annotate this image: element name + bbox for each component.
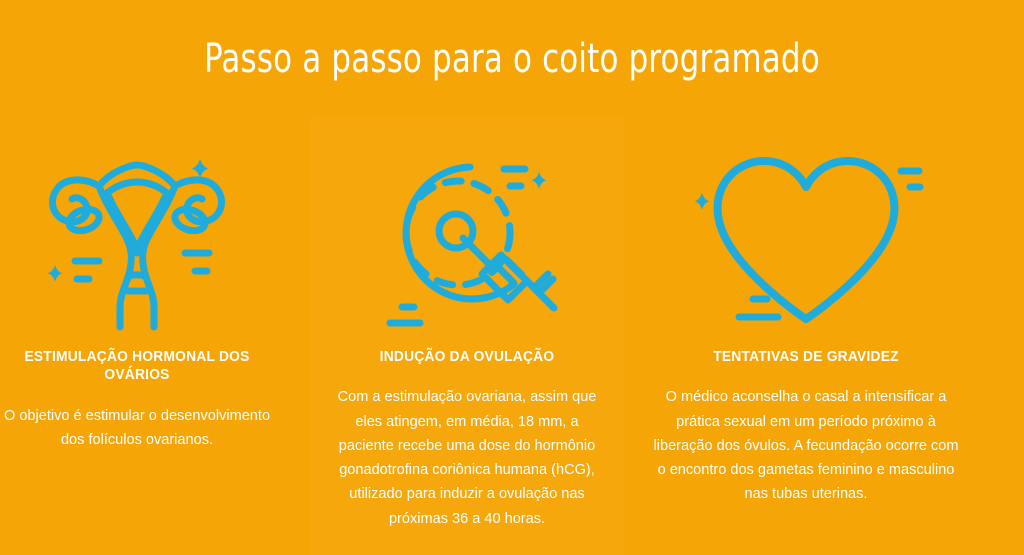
uterus-ovaries-icon bbox=[27, 141, 247, 341]
uterus-ovaries-icon-box bbox=[27, 134, 247, 348]
syringe-ovum-icon bbox=[362, 141, 572, 341]
step-body: O médico aconselha o casal a intensifica… bbox=[651, 366, 961, 506]
step-heading: INDUÇÃO DA OVULAÇÃO bbox=[325, 348, 610, 366]
step-heading: TENTATIVAS DE GRAVIDEZ bbox=[649, 348, 963, 366]
heart-icon-box bbox=[686, 134, 926, 348]
step-body: O objetivo é estimular o desenvolvimento… bbox=[0, 385, 283, 453]
step-column-tentativas-de-gravidez: TENTATIVAS DE GRAVIDEZ O médico aconselh… bbox=[624, 118, 988, 555]
heart-icon bbox=[686, 141, 926, 341]
sparkle-decorations bbox=[695, 193, 710, 210]
step-column-estimulacao-hormonal: ESTIMULAÇÃO HORMONAL DOS OVÁRIOS O objet… bbox=[0, 118, 310, 555]
title-bar: Passo a passo para o coito programado bbox=[0, 0, 1024, 118]
step-heading: ESTIMULAÇÃO HORMONAL DOS OVÁRIOS bbox=[0, 348, 275, 385]
step-column-inducao-da-ovulacao: INDUÇÃO DA OVULAÇÃO Com a estimulação ov… bbox=[310, 118, 624, 555]
steps-row: ESTIMULAÇÃO HORMONAL DOS OVÁRIOS O objet… bbox=[0, 118, 1024, 555]
step-body: Com a estimulação ovariana, assim que el… bbox=[326, 366, 607, 531]
page-title: Passo a passo para o coito programado bbox=[204, 37, 820, 81]
syringe-ovum-icon-box bbox=[362, 134, 572, 348]
infographic-panel: Passo a passo para o coito programado bbox=[0, 0, 1024, 555]
sparkle-decorations bbox=[532, 172, 547, 189]
